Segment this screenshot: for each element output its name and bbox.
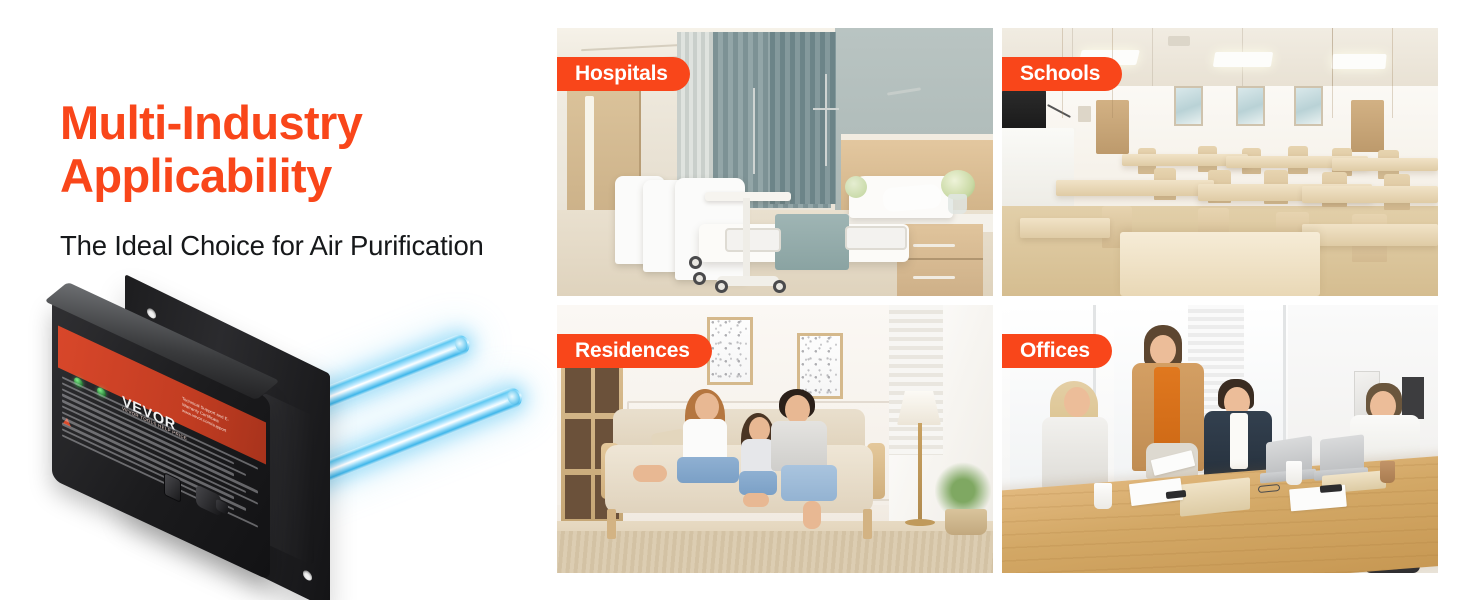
classroom-desk <box>1302 224 1438 246</box>
area-rug <box>557 531 993 573</box>
head <box>695 393 719 421</box>
classroom-desk <box>1302 186 1438 203</box>
flower-vase <box>948 194 967 214</box>
plant-basket <box>945 509 987 535</box>
house-plant <box>935 461 991 515</box>
bare-feet <box>633 465 667 482</box>
iv-pole <box>753 88 755 174</box>
floor-lamp-base <box>905 519 935 526</box>
shelf-compartment <box>565 361 591 413</box>
ceiling-vent <box>1168 36 1190 46</box>
ceiling-tile-seam <box>1152 28 1153 90</box>
dress-shirt <box>1230 413 1248 469</box>
bed-caster-wheel <box>693 272 706 285</box>
window-blind <box>889 305 943 455</box>
artwork-canvas <box>710 320 750 382</box>
legs-jeans <box>739 471 777 495</box>
classroom-desk-foreground <box>1120 232 1320 296</box>
bed-caster-wheel <box>689 256 702 269</box>
coffee-cup <box>1286 461 1302 485</box>
copy-block: Multi-Industry Applicability The Ideal C… <box>60 96 540 262</box>
framed-artwork <box>1294 86 1323 126</box>
bed-caster-wheel <box>715 280 728 293</box>
bed-caster-wheel <box>773 280 786 293</box>
artwork-canvas <box>800 336 840 396</box>
bare-feet <box>743 493 769 507</box>
product-render: VEVOR VEVOR TOOLS HELP PRICE Technical S… <box>30 318 550 580</box>
bed-blanket <box>775 214 849 270</box>
legs-jeans <box>677 457 739 483</box>
coffee-cup <box>1094 483 1112 509</box>
torso-white-blazer <box>1042 417 1108 489</box>
scenario-panel-residences[interactable]: Residences <box>557 305 993 573</box>
ceiling-light <box>1331 54 1386 69</box>
badge-offices[interactable]: Offices <box>1002 334 1112 368</box>
framed-artwork <box>707 317 753 385</box>
head <box>1064 387 1090 417</box>
uv-tube-cap <box>453 335 470 353</box>
page-subtitle: The Ideal Choice for Air Purification <box>60 230 540 262</box>
page-title: Multi-Industry Applicability <box>60 96 540 202</box>
framed-artwork <box>797 333 843 399</box>
door <box>1351 100 1384 152</box>
framed-artwork <box>1174 86 1203 126</box>
shelf-compartment <box>595 361 619 413</box>
iv-pole <box>825 74 827 166</box>
bed-side-rail <box>845 226 907 250</box>
head <box>785 395 810 424</box>
wall-control-panel <box>1078 106 1091 122</box>
whiteboard-screen <box>1002 90 1046 130</box>
bed-side-rail <box>725 228 781 252</box>
badge-hospitals[interactable]: Hospitals <box>557 57 690 91</box>
floor-lamp-pole <box>918 423 922 523</box>
classroom-desk <box>1056 180 1214 196</box>
cabinet-seam <box>897 258 983 260</box>
torso-grey-top <box>741 439 775 475</box>
plant <box>845 176 867 198</box>
application-scenarios-grid: Hospitals <box>557 28 1438 574</box>
inner-orange-blouse <box>1154 367 1180 449</box>
badge-residences[interactable]: Residences <box>557 334 712 368</box>
legs-jeans <box>781 465 837 501</box>
shelf-compartment <box>565 419 591 469</box>
uv-tube-cap <box>505 388 522 406</box>
door-glass <box>585 96 594 214</box>
torso-grey-sweater <box>771 421 827 471</box>
classroom-desk <box>1020 218 1110 238</box>
shelf-compartment <box>565 475 591 519</box>
badge-schools[interactable]: Schools <box>1002 57 1122 91</box>
head <box>1150 335 1176 365</box>
screw-hole-icon <box>147 307 156 320</box>
screw-hole-icon <box>303 569 312 582</box>
sofa-leg <box>607 509 616 539</box>
lectern <box>1002 128 1074 218</box>
iv-pole-arm <box>813 108 839 110</box>
coffee-cup <box>1380 461 1395 483</box>
scenario-panel-offices[interactable]: Offices <box>1002 305 1438 573</box>
cabinet-handle <box>913 244 955 247</box>
floor-plank-seam <box>1332 28 1333 118</box>
framed-artwork <box>1236 86 1265 126</box>
pillow <box>882 184 942 213</box>
bare-feet <box>803 501 821 529</box>
bedside-cabinet <box>897 224 983 296</box>
multi-industry-applicability-banner: Multi-Industry Applicability The Ideal C… <box>0 0 1464 600</box>
ceiling-light <box>1213 52 1273 67</box>
scenario-panel-hospitals[interactable]: Hospitals <box>557 28 993 296</box>
floor-plank-seam <box>1392 28 1393 118</box>
sofa-leg <box>863 509 872 539</box>
overbed-table-stem <box>743 198 750 280</box>
scenario-panel-schools[interactable]: Schools <box>1002 28 1438 296</box>
cabinet-handle <box>913 276 955 279</box>
classroom-desk <box>1332 158 1438 171</box>
product-image-uv-air-purifier: VEVOR VEVOR TOOLS HELP PRICE Technical S… <box>30 318 550 580</box>
framed-artwork <box>1402 377 1424 419</box>
